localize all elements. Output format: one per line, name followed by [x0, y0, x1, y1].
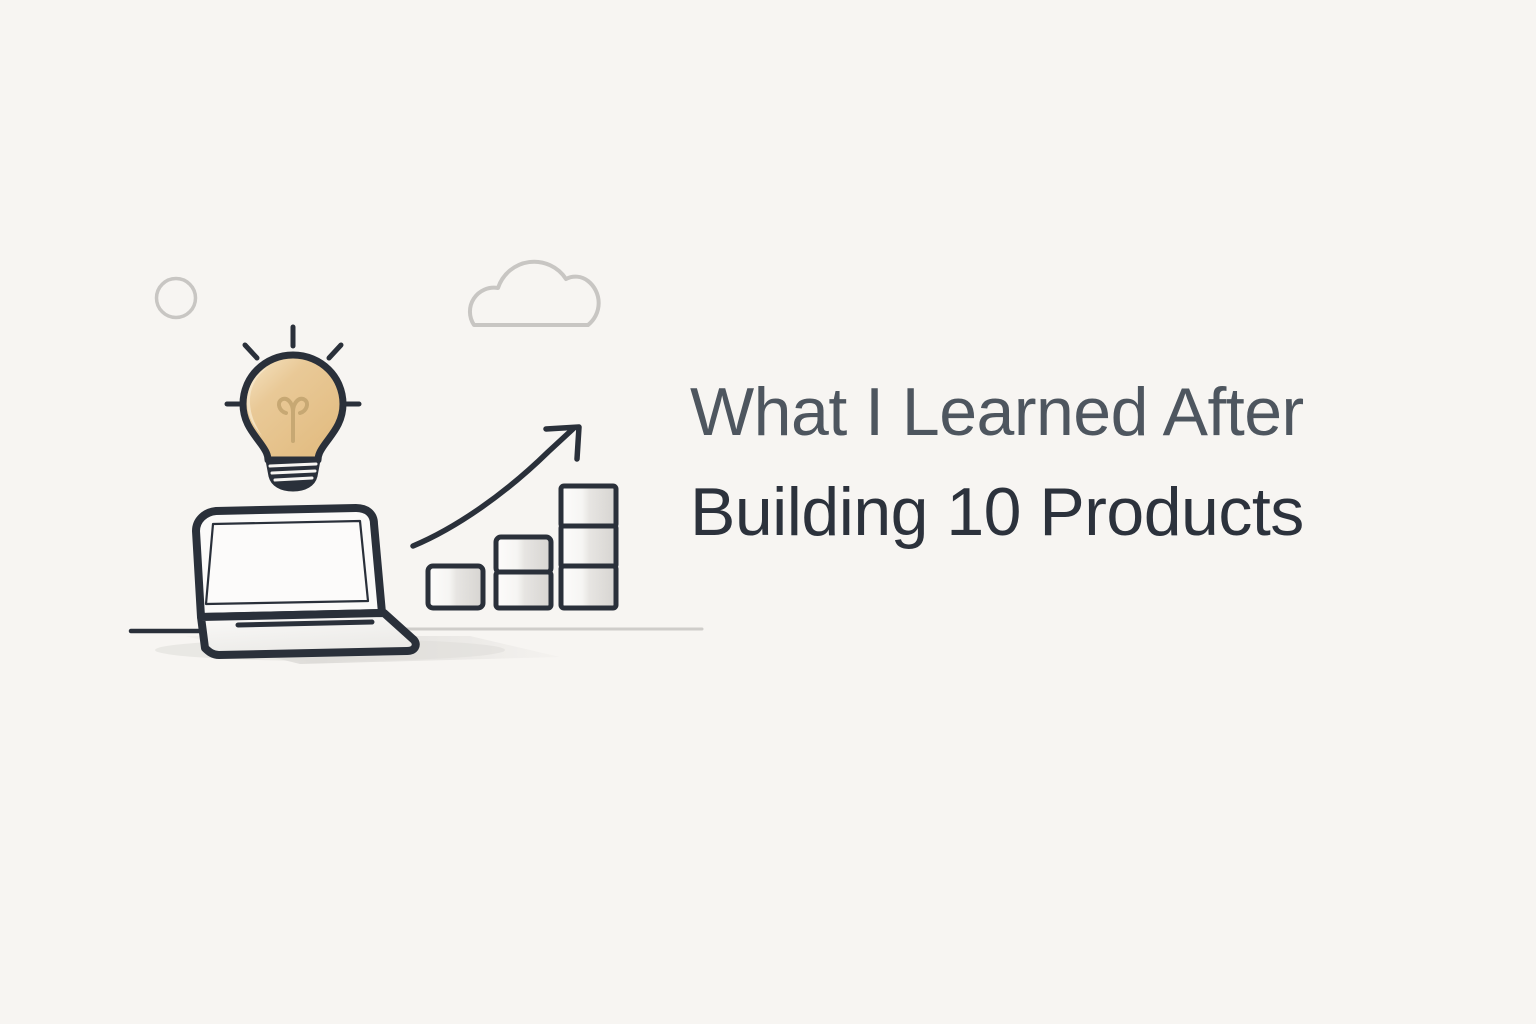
bar-block	[561, 566, 616, 608]
lightbulb-icon	[227, 327, 359, 489]
circle-icon	[157, 279, 196, 318]
cloud-icon	[470, 262, 599, 325]
bar-chart-blocks	[428, 486, 616, 608]
poster-canvas: What I Learned After Building 10 Product…	[0, 0, 1536, 1024]
bar-block	[428, 566, 483, 608]
bar-block	[561, 526, 616, 567]
growth-arrow-icon	[413, 427, 579, 546]
bar-block	[561, 486, 616, 527]
bar-block	[496, 572, 551, 608]
bar-block	[496, 537, 551, 573]
title-line-2: Building 10 Products	[690, 462, 1370, 562]
page-title: What I Learned After Building 10 Product…	[690, 362, 1370, 562]
laptop-icon	[196, 508, 416, 655]
title-line-1: What I Learned After	[690, 362, 1370, 462]
